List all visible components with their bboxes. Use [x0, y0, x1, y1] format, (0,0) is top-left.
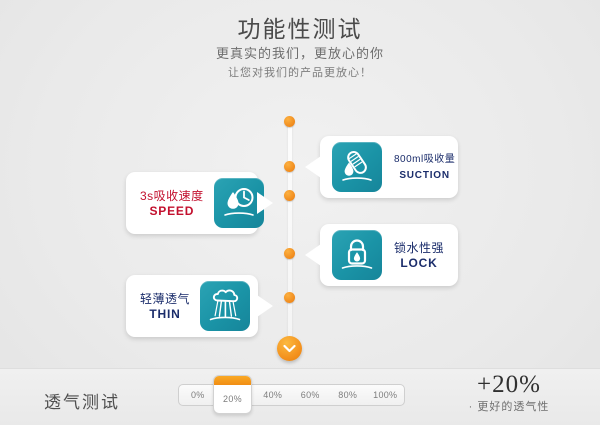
chevron-down-icon: [283, 344, 296, 353]
feature-label-cn-lock: 锁水性强: [394, 240, 444, 256]
segment-option-2[interactable]: 40%: [254, 385, 292, 405]
feature-card-suction[interactable]: 800ml吸收量 SUCTION: [320, 136, 458, 198]
droplet-clock-icon: [214, 178, 264, 228]
feature-labels-suction: 800ml吸收量 SUCTION: [394, 152, 455, 183]
feature-labels-speed: 3s吸收速度 SPEED: [140, 188, 204, 219]
feature-label-en-speed: SPEED: [140, 204, 204, 219]
page-title: 功能性测试: [0, 14, 600, 44]
breathability-test-label: 透气测试: [44, 388, 120, 413]
segment-selected-label: 20%: [223, 394, 242, 404]
segment-selected-tab[interactable]: 20%: [213, 375, 252, 414]
section-divider: [0, 368, 600, 369]
page-subtitle-secondary: 让您对我们的产品更放心！: [0, 64, 600, 82]
breathability-result: +20% · 更好的透气性: [444, 371, 574, 415]
feature-labels-thin: 轻薄透气 THIN: [140, 291, 190, 322]
feature-label-en-suction: SUCTION: [394, 168, 455, 183]
test-tube-droplet-icon: [332, 142, 382, 192]
feature-label-cn-suction: 800ml吸收量: [394, 152, 455, 168]
feature-label-en-thin: THIN: [140, 307, 190, 322]
timeline-end-marker[interactable]: [277, 336, 302, 361]
feature-card-speed[interactable]: 3s吸收速度 SPEED: [126, 172, 258, 234]
result-caption: · 更好的透气性: [444, 399, 574, 415]
lock-droplet-icon: [332, 230, 382, 280]
page-header: 功能性测试 更真实的我们，更放心的你 让您对我们的产品更放心！: [0, 14, 600, 82]
segment-option-4[interactable]: 80%: [329, 385, 367, 405]
segment-option-3[interactable]: 60%: [292, 385, 330, 405]
breathable-cloud-icon: [200, 281, 250, 331]
functional-test-infographic: 功能性测试 更真实的我们，更放心的你 让您对我们的产品更放心！ 3s吸收速度 S…: [0, 0, 600, 425]
segment-option-0[interactable]: 0%: [179, 385, 217, 405]
feature-labels-lock: 锁水性强 LOCK: [394, 240, 444, 271]
timeline-dot-4[interactable]: [284, 248, 295, 259]
timeline-dot-5[interactable]: [284, 292, 295, 303]
result-value: +20%: [444, 371, 574, 399]
feature-label-cn-thin: 轻薄透气: [140, 291, 190, 307]
timeline-dot-3[interactable]: [284, 190, 295, 201]
feature-card-lock[interactable]: 锁水性强 LOCK: [320, 224, 458, 286]
feature-label-en-lock: LOCK: [394, 256, 444, 271]
timeline-dot-1[interactable]: [284, 116, 295, 127]
feature-card-thin[interactable]: 轻薄透气 THIN: [126, 275, 258, 337]
feature-label-cn-speed: 3s吸收速度: [140, 188, 204, 204]
timeline-track: [288, 118, 292, 346]
timeline-dot-2[interactable]: [284, 161, 295, 172]
page-subtitle-primary: 更真实的我们，更放心的你: [0, 44, 600, 64]
segment-option-5[interactable]: 100%: [367, 385, 405, 405]
segment-selected-indicator: [214, 376, 251, 385]
